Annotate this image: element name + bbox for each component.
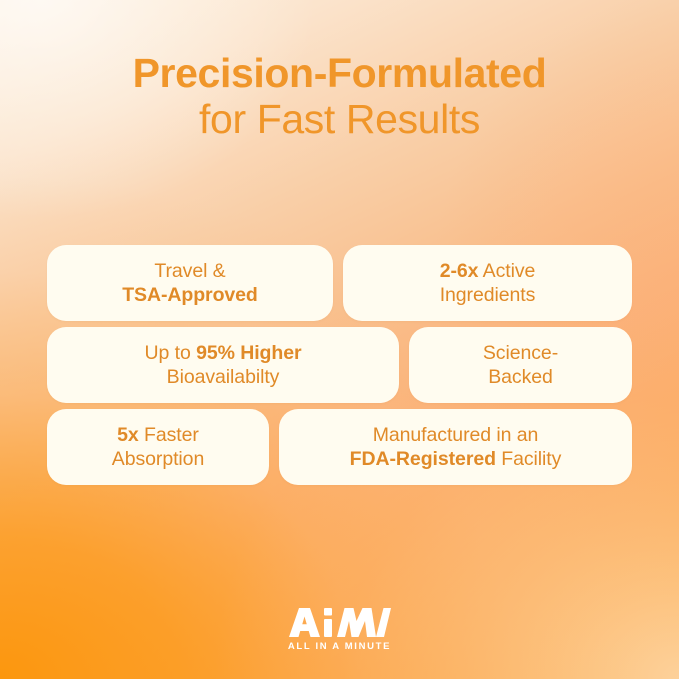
feature-line-1-emphasis: 2-6x bbox=[440, 260, 479, 282]
feature-line-2: Ingredients bbox=[440, 284, 536, 306]
feature-card-text: Up to 95% Higher Bioavailabilty bbox=[145, 341, 302, 391]
feature-card-active-ingredients: 2-6x Active Ingredients bbox=[343, 245, 632, 321]
feature-line-2-emphasis: TSA-Approved bbox=[122, 284, 258, 306]
feature-card-row: 5x Faster Absorption Manufactured in an … bbox=[47, 409, 632, 485]
feature-card-row: Travel & TSA-Approved 2-6x Active Ingred… bbox=[47, 245, 632, 321]
feature-line-1: Up to bbox=[145, 342, 197, 364]
feature-card-text: Science- Backed bbox=[483, 341, 558, 391]
feature-line-2: Facility bbox=[496, 448, 561, 470]
feature-card-text: Manufactured in an FDA-Registered Facili… bbox=[350, 423, 562, 473]
feature-line-1: Manufactured in an bbox=[373, 424, 539, 446]
feature-card-text: 2-6x Active Ingredients bbox=[440, 259, 536, 309]
feature-line-1: Faster bbox=[139, 424, 199, 446]
feature-card-row: Up to 95% Higher Bioavailabilty Science-… bbox=[47, 327, 632, 403]
feature-card-faster-absorption: 5x Faster Absorption bbox=[47, 409, 269, 485]
feature-card-science-backed: Science- Backed bbox=[409, 327, 632, 403]
feature-line-2: Absorption bbox=[112, 448, 204, 470]
feature-card-text: Travel & TSA-Approved bbox=[122, 259, 258, 309]
poster-content: Precision-Formulated for Fast Results Tr… bbox=[0, 0, 679, 679]
feature-card-fda-registered-facility: Manufactured in an FDA-Registered Facili… bbox=[279, 409, 632, 485]
feature-card-higher-bioavailability: Up to 95% Higher Bioavailabilty bbox=[47, 327, 399, 403]
feature-line-2-emphasis: FDA-Registered bbox=[350, 448, 496, 470]
feature-line-1: Travel & bbox=[154, 260, 225, 282]
promo-poster: Precision-Formulated for Fast Results Tr… bbox=[0, 0, 679, 679]
feature-line-1: Science- bbox=[483, 342, 558, 364]
feature-line-2: Bioavailabilty bbox=[167, 366, 280, 388]
feature-line-1-emphasis: 95% Higher bbox=[196, 342, 301, 364]
feature-card-grid: Travel & TSA-Approved 2-6x Active Ingred… bbox=[47, 245, 632, 485]
page-title: Precision-Formulated for Fast Results bbox=[133, 52, 547, 142]
headline-line-2: for Fast Results bbox=[133, 98, 547, 141]
aim-wordmark-icon bbox=[288, 607, 392, 638]
headline-line-1: Precision-Formulated bbox=[133, 52, 547, 95]
feature-card-text: 5x Faster Absorption bbox=[112, 423, 204, 473]
brand-tagline: ALL IN A MINUTE bbox=[288, 641, 391, 652]
feature-line-1-emphasis: 5x bbox=[117, 424, 139, 446]
feature-line-1: Active bbox=[478, 260, 535, 282]
brand-logo: ALL IN A MINUTE bbox=[288, 607, 392, 652]
feature-line-2: Backed bbox=[488, 366, 553, 388]
feature-card-travel-tsa-approved: Travel & TSA-Approved bbox=[47, 245, 333, 321]
